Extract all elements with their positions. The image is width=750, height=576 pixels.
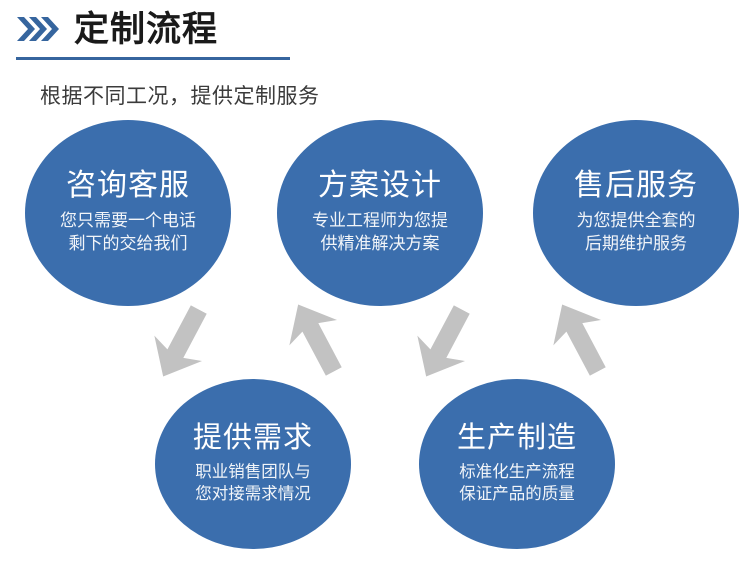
flow-node-desc-line2: 您对接需求情况 [195,483,311,505]
flow-node-manufacturing[interactable]: 生产制造 标准化生产流程 保证产品的质量 [419,379,615,549]
flow-node-provide-requirements[interactable]: 提供需求 职业销售团队与 您对接需求情况 [155,379,351,549]
flow-node-desc-line1: 标准化生产流程 [459,461,575,483]
flow-node-after-sales[interactable]: 售后服务 为您提供全套的 后期维护服务 [533,120,739,306]
flow-node-title: 方案设计 [318,170,442,202]
flow-node-desc-line1: 职业销售团队与 [195,461,311,483]
flow-node-desc-line1: 为您提供全套的 [577,210,696,233]
arrow-up-right-icon [273,291,360,385]
arrow-down-right-icon [138,296,225,390]
flow-node-desc-line2: 供精准解决方案 [321,233,440,256]
flow-node-title: 售后服务 [574,170,698,202]
arrow-down-right-icon [401,296,488,390]
arrow-up-right-icon [537,291,624,385]
flow-node-desc-line2: 剩下的交给我们 [69,233,188,256]
flow-node-title: 咨询客服 [66,170,190,202]
flow-node-desc-line1: 专业工程师为您提 [312,210,448,233]
flow-node-title: 提供需求 [193,423,313,454]
flow-node-desc-line2: 保证产品的质量 [459,483,575,505]
process-flow-diagram: 咨询客服 您只需要一个电话 剩下的交给我们 方案设计 专业工程师为您提 供精准解… [0,0,750,576]
flow-node-desc-line1: 您只需要一个电话 [60,210,196,233]
flow-node-consultation[interactable]: 咨询客服 您只需要一个电话 剩下的交给我们 [25,120,231,306]
flow-node-scheme-design[interactable]: 方案设计 专业工程师为您提 供精准解决方案 [277,120,483,306]
flow-node-title: 生产制造 [457,423,577,454]
flow-node-desc-line2: 后期维护服务 [585,233,687,256]
